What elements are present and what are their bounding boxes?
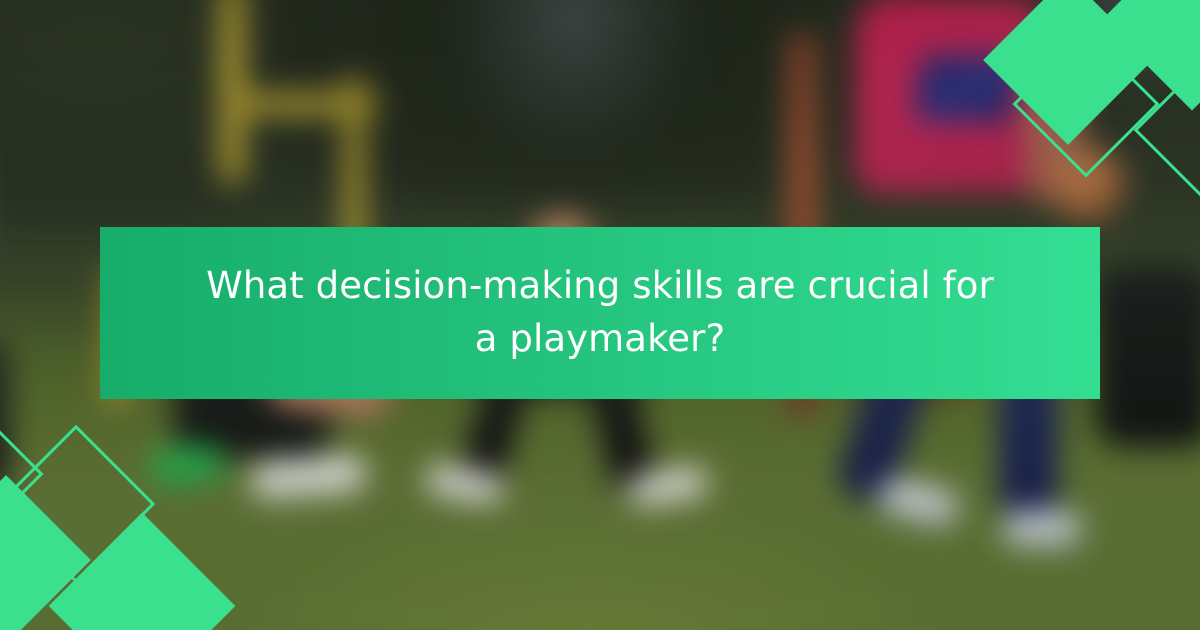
headline-banner: What decision-making skills are crucial … — [100, 227, 1100, 399]
page-title: What decision-making skills are crucial … — [205, 260, 995, 365]
decor-top-right — [1000, 0, 1200, 164]
decor-bottom-left — [0, 466, 200, 630]
question-card: What decision-making skills are crucial … — [0, 0, 1200, 630]
